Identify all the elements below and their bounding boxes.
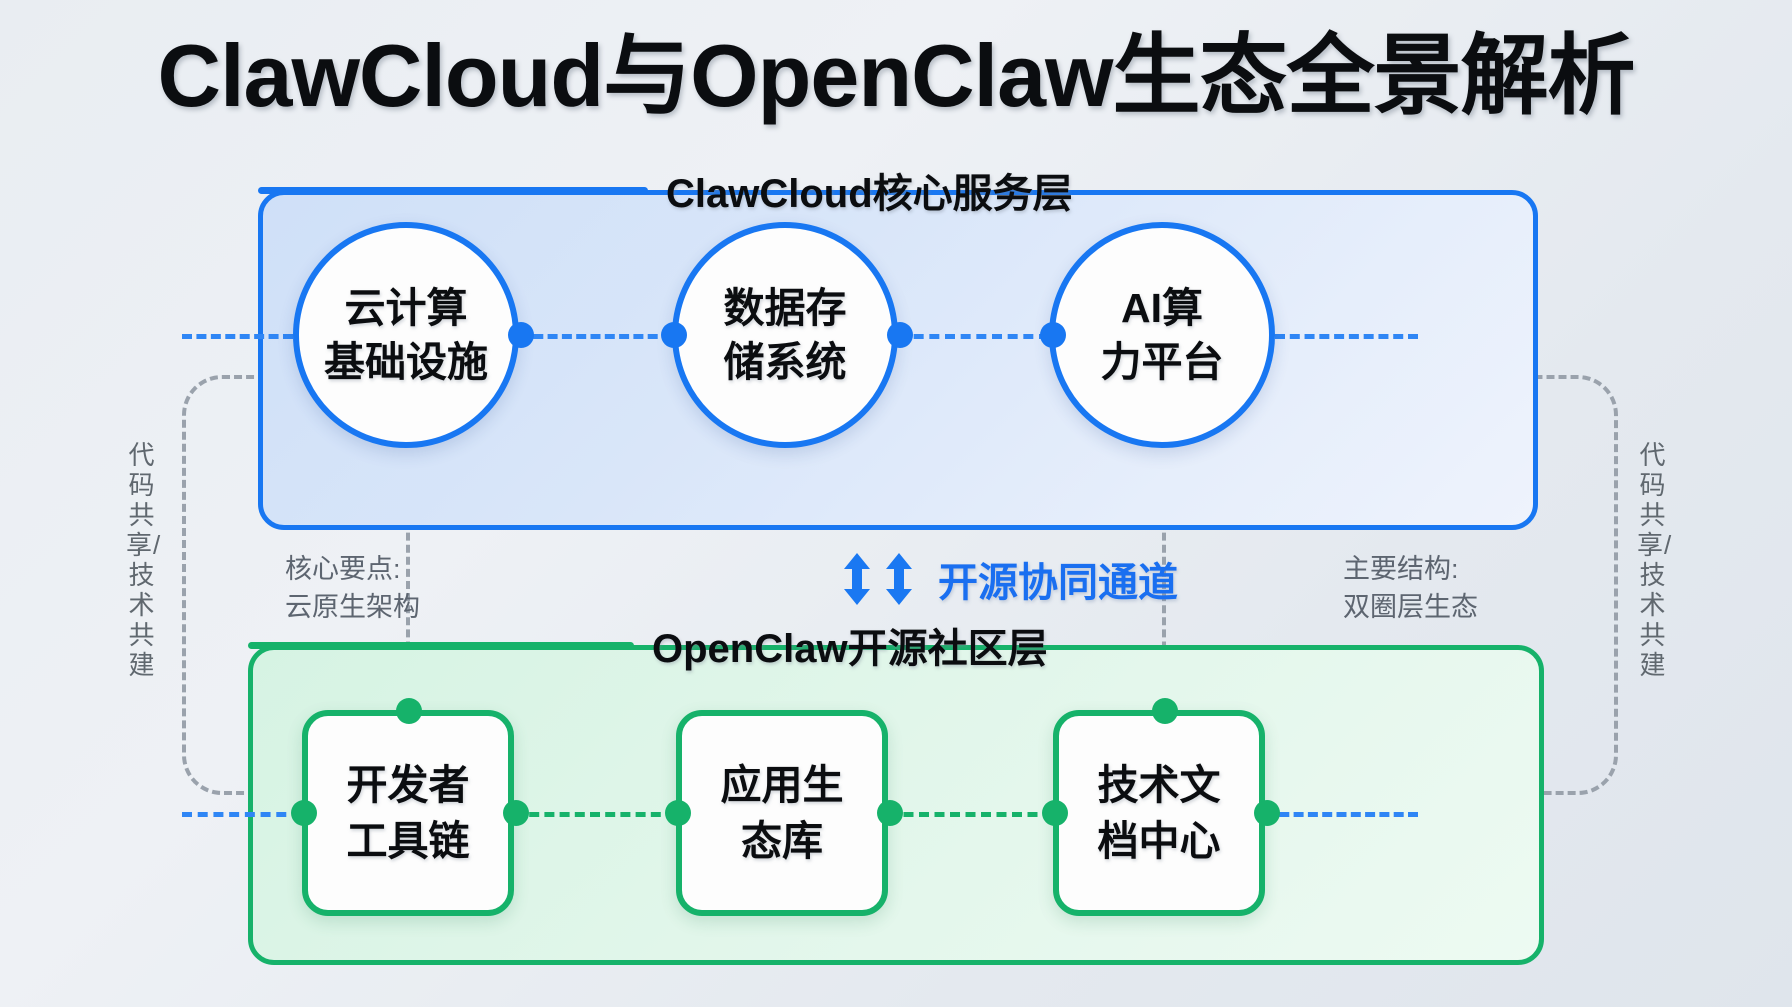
connector-dot-storage-right: [887, 322, 913, 348]
link-cloud-to-storage: [519, 334, 672, 339]
clawcloud-panel-header: ClawCloud核心服务层: [258, 163, 1091, 217]
link-devtools-to-appstore: [514, 812, 676, 817]
openclaw-panel-header: OpenClaw开源社区层: [248, 618, 1066, 672]
node-label-line1: 云计算: [345, 281, 468, 335]
node-label-line1: AI算: [1121, 281, 1203, 335]
openclaw-header-label: OpenClaw开源社区层: [634, 616, 1066, 674]
connector-dot-cloud-right: [508, 322, 534, 348]
node-ai-compute-platform[interactable]: AI算 力平台: [1049, 222, 1275, 448]
side-label-right-code-sharing: 代码共享/技术共建: [1637, 440, 1669, 680]
node-label-line2: 力平台: [1101, 335, 1224, 389]
node-label-line2: 储系统: [724, 335, 847, 389]
connector-dot-devtools-right: [503, 800, 529, 826]
page-title: ClawCloud与OpenClaw生态全景解析: [0, 28, 1792, 124]
connector-dot-appstore-right: [877, 800, 903, 826]
up-down-arrows-icon: [840, 553, 916, 605]
connector-dot-docs-left: [1042, 800, 1068, 826]
link-ai-to-right-bracket: [1275, 334, 1418, 339]
node-label-line1: 技术文: [1098, 757, 1221, 813]
connector-dot-appstore-left: [665, 800, 691, 826]
node-label-line2: 态库: [741, 813, 823, 869]
link-left-bracket-to-cloud: [182, 334, 293, 339]
node-label-line1: 数据存: [724, 281, 847, 335]
green-header-rule: [248, 642, 634, 649]
node-data-storage-system[interactable]: 数据存 储系统: [672, 222, 898, 448]
node-label-line2: 工具链: [347, 813, 470, 869]
node-label-line1: 应用生: [721, 757, 844, 813]
connector-dot-devtools-top: [396, 698, 422, 724]
link-left-bracket-to-devtools: [182, 812, 302, 817]
diagram-canvas: ClawCloud与OpenClaw生态全景解析 ClawCloud核心服务层 …: [0, 0, 1792, 1007]
node-technical-documentation-center[interactable]: 技术文 档中心: [1053, 710, 1265, 916]
node-developer-toolchain[interactable]: 开发者 工具链: [302, 710, 514, 916]
note-core-points-line1: 核心要点:: [285, 550, 420, 588]
link-appstore-to-docs: [888, 812, 1053, 817]
connector-dot-docs-top: [1152, 698, 1178, 724]
note-main-structure-line2: 双圈层生态: [1343, 588, 1478, 626]
node-label-line2: 档中心: [1098, 813, 1221, 869]
note-main-structure: 主要结构: 双圈层生态: [1343, 550, 1478, 626]
link-storage-to-ai: [898, 334, 1049, 339]
node-label-line1: 开发者: [347, 757, 470, 813]
clawcloud-header-label: ClawCloud核心服务层: [648, 161, 1091, 219]
channel-label: 开源协同通道: [938, 550, 1178, 608]
blue-header-rule: [258, 187, 648, 194]
note-core-points: 核心要点: 云原生架构: [285, 550, 420, 626]
connector-dot-docs-right: [1254, 800, 1280, 826]
connector-dot-devtools-left: [291, 800, 317, 826]
connector-dot-storage-left: [661, 322, 687, 348]
node-application-ecosystem-library[interactable]: 应用生 态库: [676, 710, 888, 916]
side-label-left-code-sharing: 代码共享/技术共建: [126, 440, 158, 680]
open-source-collab-channel: 开源协同通道: [840, 550, 1178, 608]
connector-dot-ai-left: [1040, 322, 1066, 348]
note-main-structure-line1: 主要结构:: [1343, 550, 1478, 588]
node-label-line2: 基础设施: [324, 335, 488, 389]
node-cloud-computing-infrastructure[interactable]: 云计算 基础设施: [293, 222, 519, 448]
link-docs-to-right-bracket: [1265, 812, 1418, 817]
